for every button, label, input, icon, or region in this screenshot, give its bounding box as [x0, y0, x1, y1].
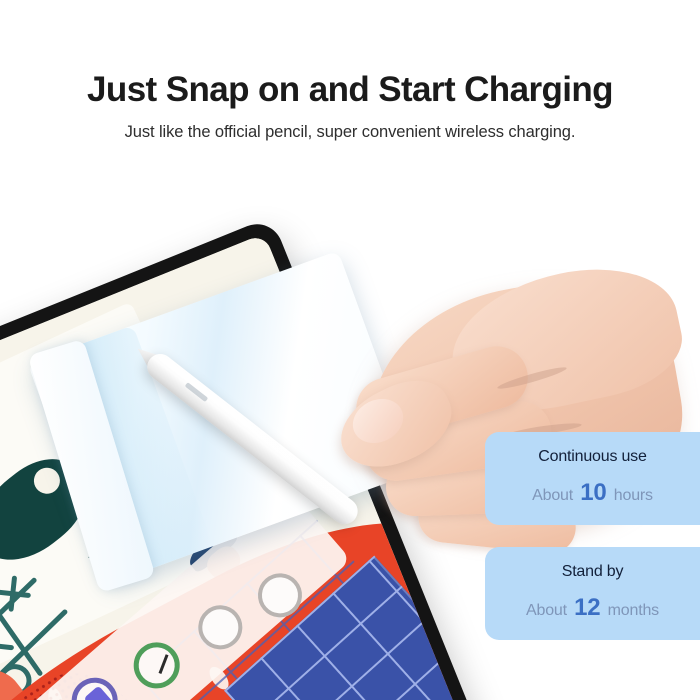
spec-card-number: 12: [574, 594, 600, 621]
spec-card-continuous-use: Continuous use About 10 hours: [485, 432, 700, 525]
header: Just Snap on and Start Charging Just lik…: [0, 0, 700, 160]
spec-card-stand-by: Stand by About 12 months: [485, 547, 700, 640]
spec-card-value: About 10 hours: [497, 479, 688, 507]
stroke-tool-icon[interactable]: [125, 633, 190, 698]
spec-card-title: Continuous use: [497, 448, 688, 466]
spec-card-value: About 12 months: [497, 594, 688, 622]
spec-card-title: Stand by: [497, 563, 688, 581]
spec-cards: Continuous use About 10 hours Stand by A…: [485, 432, 700, 640]
spec-card-unit: hours: [614, 487, 653, 504]
spec-card-prefix: About: [526, 602, 567, 619]
spec-card-prefix: About: [532, 487, 573, 504]
page-title: Just Snap on and Start Charging: [87, 72, 613, 109]
spec-card-number: 10: [580, 479, 606, 506]
page-subtitle: Just like the official pencil, super con…: [125, 123, 576, 142]
product-feature-page: Just Snap on and Start Charging Just lik…: [0, 0, 700, 700]
empty-tool-icon[interactable]: [189, 597, 251, 659]
spec-card-unit: months: [608, 602, 659, 619]
color-swatch-tool-icon[interactable]: [62, 668, 127, 700]
